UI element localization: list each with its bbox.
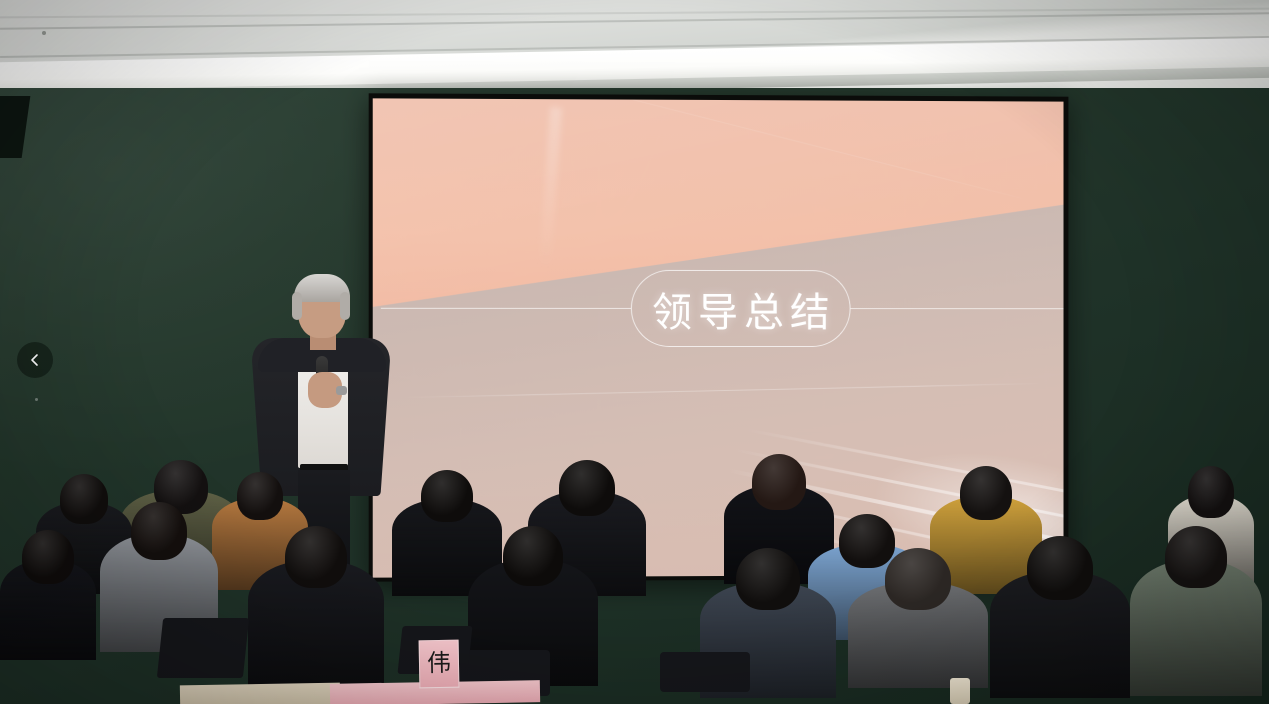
attendee-dark-right (990, 536, 1130, 698)
slide-title-text: 领导总结 (646, 279, 836, 337)
chevron-left-icon (28, 353, 42, 367)
previous-image-button[interactable] (17, 342, 53, 378)
lens-dust (35, 398, 38, 401)
attendee-head (285, 526, 347, 588)
attendee-head (131, 502, 187, 560)
table-edge (180, 683, 340, 704)
attendee-head (1188, 466, 1234, 518)
slide-hairline (502, 98, 1044, 204)
presenter-hair-side (292, 292, 302, 320)
attendee-head (421, 470, 473, 522)
presenter-hair-side (340, 292, 350, 320)
attendee-head (736, 548, 800, 610)
attendee-head (960, 466, 1012, 520)
chair-back (660, 652, 750, 692)
name-placard-text: 伟 (427, 652, 451, 676)
ceiling-seam (0, 8, 1269, 19)
attendee-head (503, 526, 563, 586)
slide-rule-left (381, 308, 631, 309)
photo-viewer: 领导总结 伟 (0, 0, 1269, 704)
attendee-head (559, 460, 615, 516)
attendee-grey-tweed (848, 548, 988, 688)
attendee-head (22, 530, 74, 584)
presenter-watch (336, 386, 347, 395)
attendee-head (237, 472, 283, 520)
laptop (157, 618, 249, 678)
slide-title-pill: 领导总结 (631, 270, 851, 347)
attendee-head (1027, 536, 1093, 600)
drink-cup (950, 678, 970, 704)
attendee-black-suit-a (248, 526, 384, 686)
attendee-dark-left (0, 530, 96, 660)
attendee-head (885, 548, 951, 610)
name-placard: 伟 (419, 640, 460, 689)
ceiling-screw (42, 31, 46, 35)
attendee-sage-right (1130, 526, 1262, 696)
slide-light-streak (539, 107, 562, 268)
attendee-head (752, 454, 806, 510)
attendee-head (1165, 526, 1227, 588)
audience: 伟 (0, 430, 1269, 704)
slide-rule-right (851, 308, 1064, 309)
